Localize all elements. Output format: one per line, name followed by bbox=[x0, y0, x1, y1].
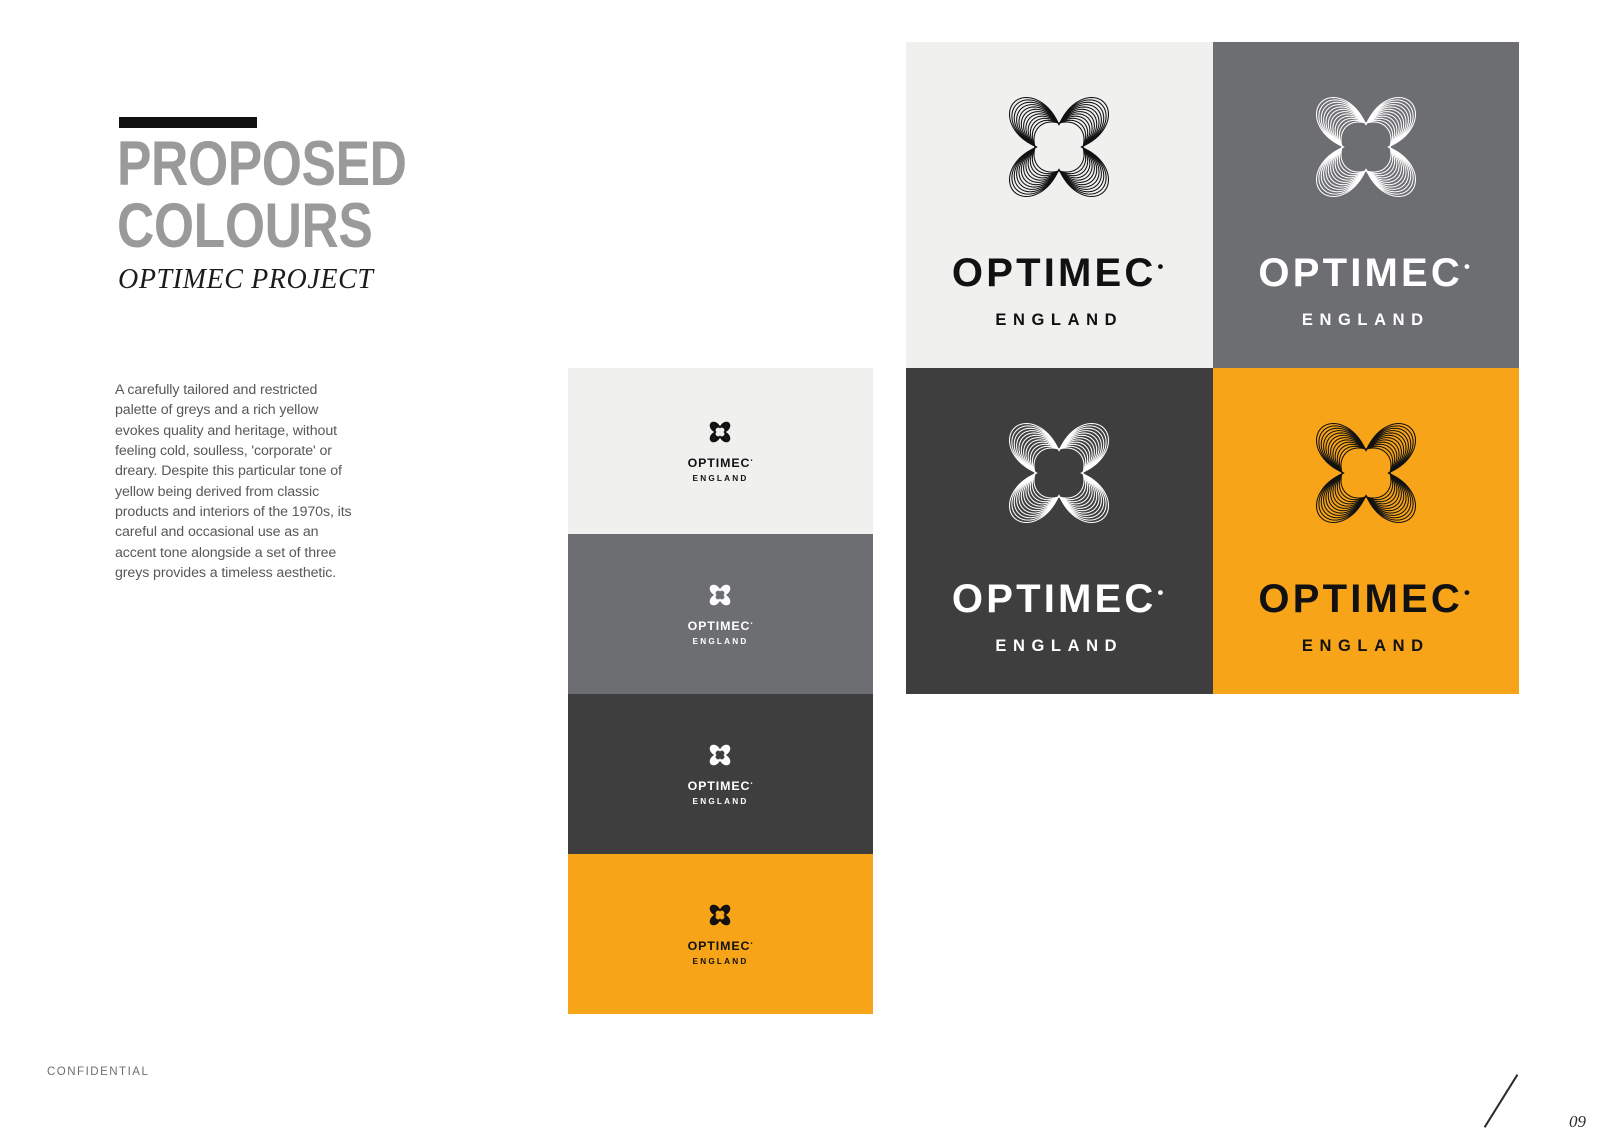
wordmark-text: OPTIMEC bbox=[688, 619, 751, 633]
trademark-icon: • bbox=[751, 458, 754, 464]
tagline: ENGLAND bbox=[693, 798, 749, 806]
optimec-spirograph-star-mark bbox=[707, 419, 733, 445]
page-number: 09 bbox=[1478, 1060, 1588, 1134]
colour-swatch-light-grey: OPTIMEC•ENGLAND bbox=[568, 368, 873, 534]
wordmark-text: OPTIMEC bbox=[952, 577, 1157, 621]
colour-swatch-mid-grey: OPTIMEC•ENGLAND bbox=[568, 534, 873, 694]
optimec-logo-lockup: OPTIMEC•ENGLAND bbox=[688, 419, 754, 483]
trademark-icon: • bbox=[1464, 583, 1473, 602]
optimec-logo-lockup: OPTIMEC•ENGLAND bbox=[952, 81, 1167, 329]
wordmark-text: OPTIMEC bbox=[688, 779, 751, 793]
logo-panel-yellow: OPTIMEC•ENGLAND bbox=[1213, 368, 1520, 694]
wordmark-text: OPTIMEC bbox=[952, 251, 1157, 295]
page-title-line-1: PROPOSED bbox=[117, 134, 470, 196]
wordmark: OPTIMEC• bbox=[952, 253, 1167, 293]
trademark-icon: • bbox=[751, 941, 754, 947]
logo-panel-charcoal: OPTIMEC•ENGLAND bbox=[906, 368, 1213, 694]
wordmark-text: OPTIMEC bbox=[688, 456, 751, 470]
colour-swatch-yellow: OPTIMEC•ENGLAND bbox=[568, 854, 873, 1014]
wordmark-text: OPTIMEC bbox=[688, 939, 751, 953]
wordmark: OPTIMEC• bbox=[688, 940, 754, 952]
trademark-icon: • bbox=[1464, 257, 1473, 276]
page-title-line-2: COLOURS bbox=[117, 196, 470, 258]
trademark-icon: • bbox=[1158, 257, 1167, 276]
trademark-icon: • bbox=[751, 781, 754, 787]
optimec-logo-lockup: OPTIMEC•ENGLAND bbox=[952, 407, 1167, 655]
tagline: ENGLAND bbox=[995, 312, 1123, 329]
optimec-spirograph-star-mark bbox=[707, 742, 733, 768]
wordmark: OPTIMEC• bbox=[688, 780, 754, 792]
page-number-slash-icon bbox=[1484, 1074, 1519, 1128]
trademark-icon: • bbox=[751, 621, 754, 627]
optimec-spirograph-star-mark bbox=[993, 81, 1125, 213]
trademark-icon: • bbox=[1158, 583, 1167, 602]
page-title: PROPOSED COLOURS bbox=[117, 134, 470, 257]
title-rule bbox=[119, 117, 257, 128]
optimec-logo-lockup: OPTIMEC•ENGLAND bbox=[1258, 81, 1473, 329]
optimec-logo-lockup: OPTIMEC•ENGLAND bbox=[1258, 407, 1473, 655]
page-number-value: 09 bbox=[1569, 1112, 1586, 1132]
wordmark-text: OPTIMEC bbox=[1258, 251, 1463, 295]
wordmark-text: OPTIMEC bbox=[1258, 577, 1463, 621]
tagline: ENGLAND bbox=[1302, 312, 1430, 329]
optimec-spirograph-star-mark bbox=[1300, 407, 1432, 539]
confidential-label: CONFIDENTIAL bbox=[47, 1066, 149, 1078]
optimec-spirograph-star-mark bbox=[1300, 81, 1432, 213]
tagline: ENGLAND bbox=[1302, 638, 1430, 655]
tagline: ENGLAND bbox=[693, 475, 749, 483]
logo-application-grid: OPTIMEC•ENGLANDOPTIMEC•ENGLANDOPTIMEC•EN… bbox=[906, 42, 1519, 694]
logo-panel-light-grey: OPTIMEC•ENGLAND bbox=[906, 42, 1213, 368]
optimec-spirograph-star-mark bbox=[707, 902, 733, 928]
tagline: ENGLAND bbox=[995, 638, 1123, 655]
tagline: ENGLAND bbox=[693, 958, 749, 966]
wordmark: OPTIMEC• bbox=[1258, 253, 1473, 293]
logo-panel-mid-grey: OPTIMEC•ENGLAND bbox=[1213, 42, 1520, 368]
tagline: ENGLAND bbox=[693, 638, 749, 646]
wordmark: OPTIMEC• bbox=[1258, 579, 1473, 619]
optimec-spirograph-star-mark bbox=[707, 582, 733, 608]
colour-swatch-stack: OPTIMEC•ENGLANDOPTIMEC•ENGLANDOPTIMEC•EN… bbox=[568, 368, 873, 1014]
body-copy: A carefully tailored and restricted pale… bbox=[115, 380, 361, 583]
wordmark: OPTIMEC• bbox=[688, 457, 754, 469]
optimec-spirograph-star-mark bbox=[993, 407, 1125, 539]
wordmark: OPTIMEC• bbox=[952, 579, 1167, 619]
optimec-logo-lockup: OPTIMEC•ENGLAND bbox=[688, 902, 754, 966]
colour-swatch-charcoal: OPTIMEC•ENGLAND bbox=[568, 694, 873, 854]
optimec-logo-lockup: OPTIMEC•ENGLAND bbox=[688, 742, 754, 806]
wordmark: OPTIMEC• bbox=[688, 620, 754, 632]
optimec-logo-lockup: OPTIMEC•ENGLAND bbox=[688, 582, 754, 646]
page-subtitle: OPTIMEC PROJECT bbox=[118, 264, 374, 296]
